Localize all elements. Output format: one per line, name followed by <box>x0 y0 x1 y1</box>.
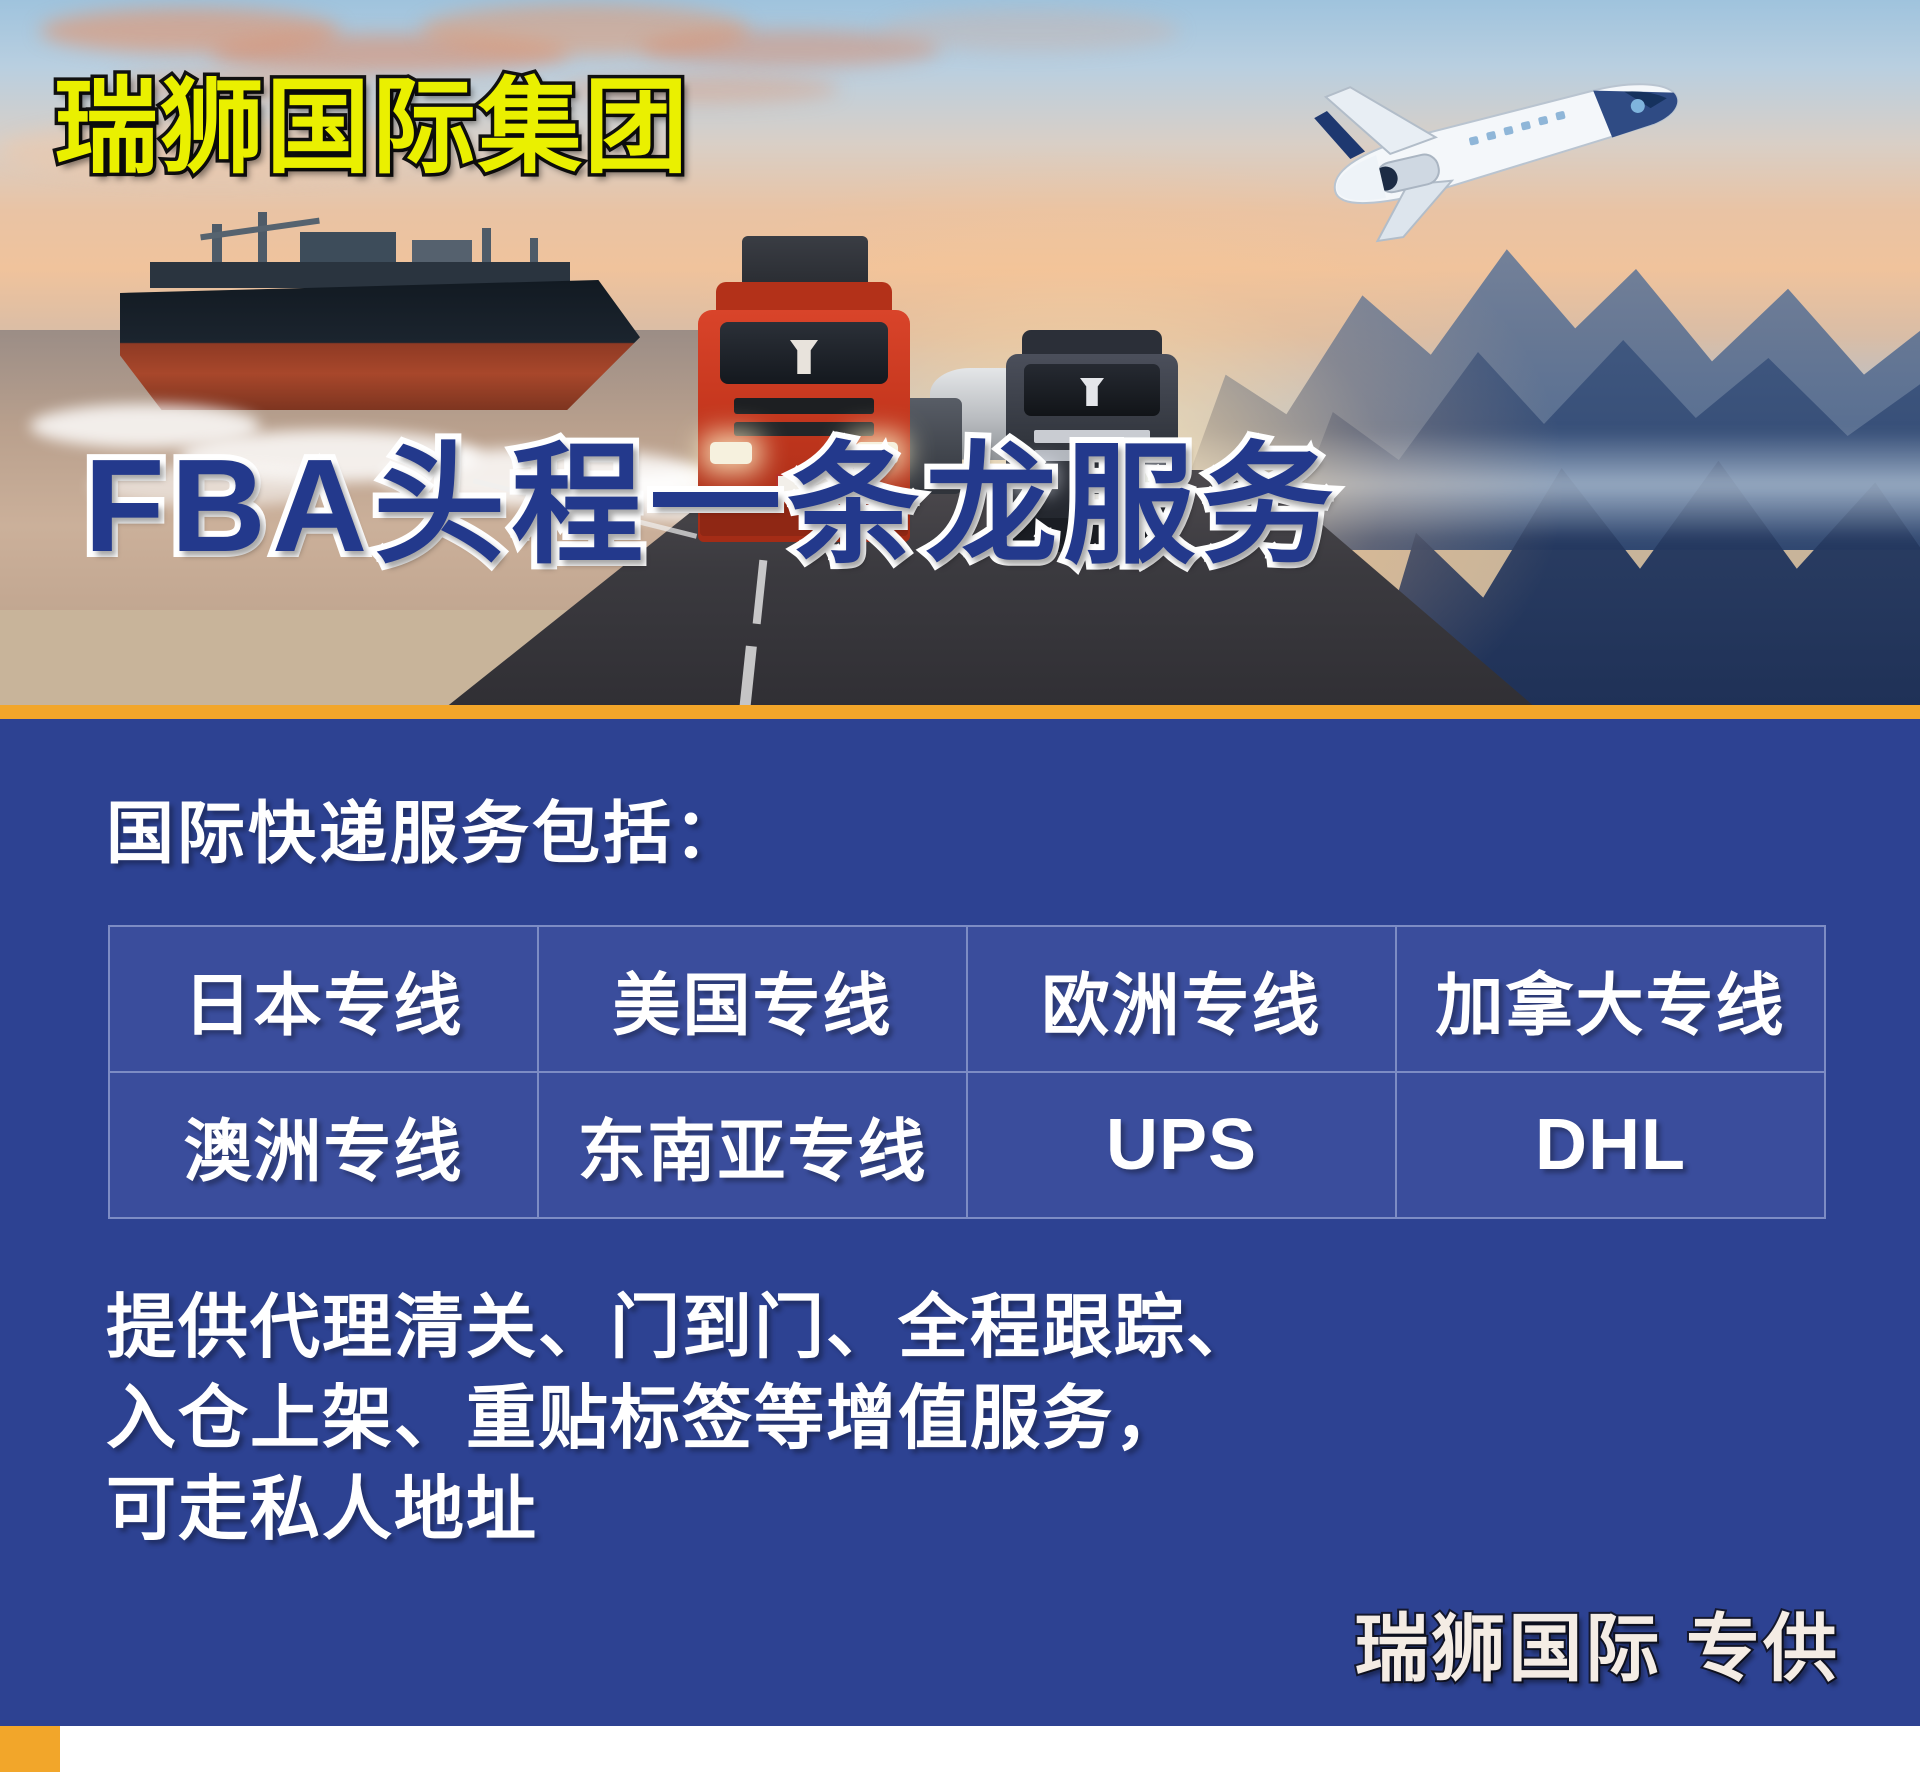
hero-headline: FBA头程一条龙服务 <box>84 440 1339 572</box>
value-added-services-copy: 提供代理清关、门到门、全程跟踪、 入仓上架、重贴标签等增值服务， 可走私人地址 <box>106 1282 1258 1555</box>
body-line-3: 可走私人地址 <box>106 1464 1258 1555</box>
hero-banner: 瑞狮国际集团 FBA头程一条龙服务 <box>0 0 1920 718</box>
service-cell-ups: UPS <box>967 1072 1396 1218</box>
airplane-icon <box>1280 26 1710 256</box>
service-cell-southeast-asia: 东南亚专线 <box>538 1072 967 1218</box>
body-line-2: 入仓上架、重贴标签等增值服务， <box>106 1373 1258 1464</box>
poster-root: 瑞狮国际集团 FBA头程一条龙服务 国际快递服务包括： 日本专线 美国专线 欧洲… <box>0 0 1920 1772</box>
service-cell-usa: 美国专线 <box>538 926 967 1072</box>
section-title: 国际快递服务包括： <box>106 800 745 868</box>
service-cell-europe: 欧洲专线 <box>967 926 1396 1072</box>
company-logo-text: 瑞狮国际集团 <box>54 76 690 180</box>
services-table: 日本专线 美国专线 欧洲专线 加拿大专线 澳洲专线 东南亚专线 UPS DHL <box>108 925 1826 1219</box>
service-cell-australia: 澳洲专线 <box>109 1072 538 1218</box>
table-row: 澳洲专线 东南亚专线 UPS DHL <box>109 1072 1825 1218</box>
body-line-1: 提供代理清关、门到门、全程跟踪、 <box>106 1282 1258 1373</box>
bottom-gold-strip <box>0 1726 60 1772</box>
service-cell-japan: 日本专线 <box>109 926 538 1072</box>
service-cell-canada: 加拿大专线 <box>1396 926 1825 1072</box>
gold-divider-bar <box>0 705 1920 719</box>
table-row: 日本专线 美国专线 欧洲专线 加拿大专线 <box>109 926 1825 1072</box>
service-cell-dhl: DHL <box>1396 1072 1825 1218</box>
bottom-white-strip <box>60 1726 1920 1772</box>
footer-brand-text: 瑞狮国际 专供 <box>1354 1612 1840 1686</box>
